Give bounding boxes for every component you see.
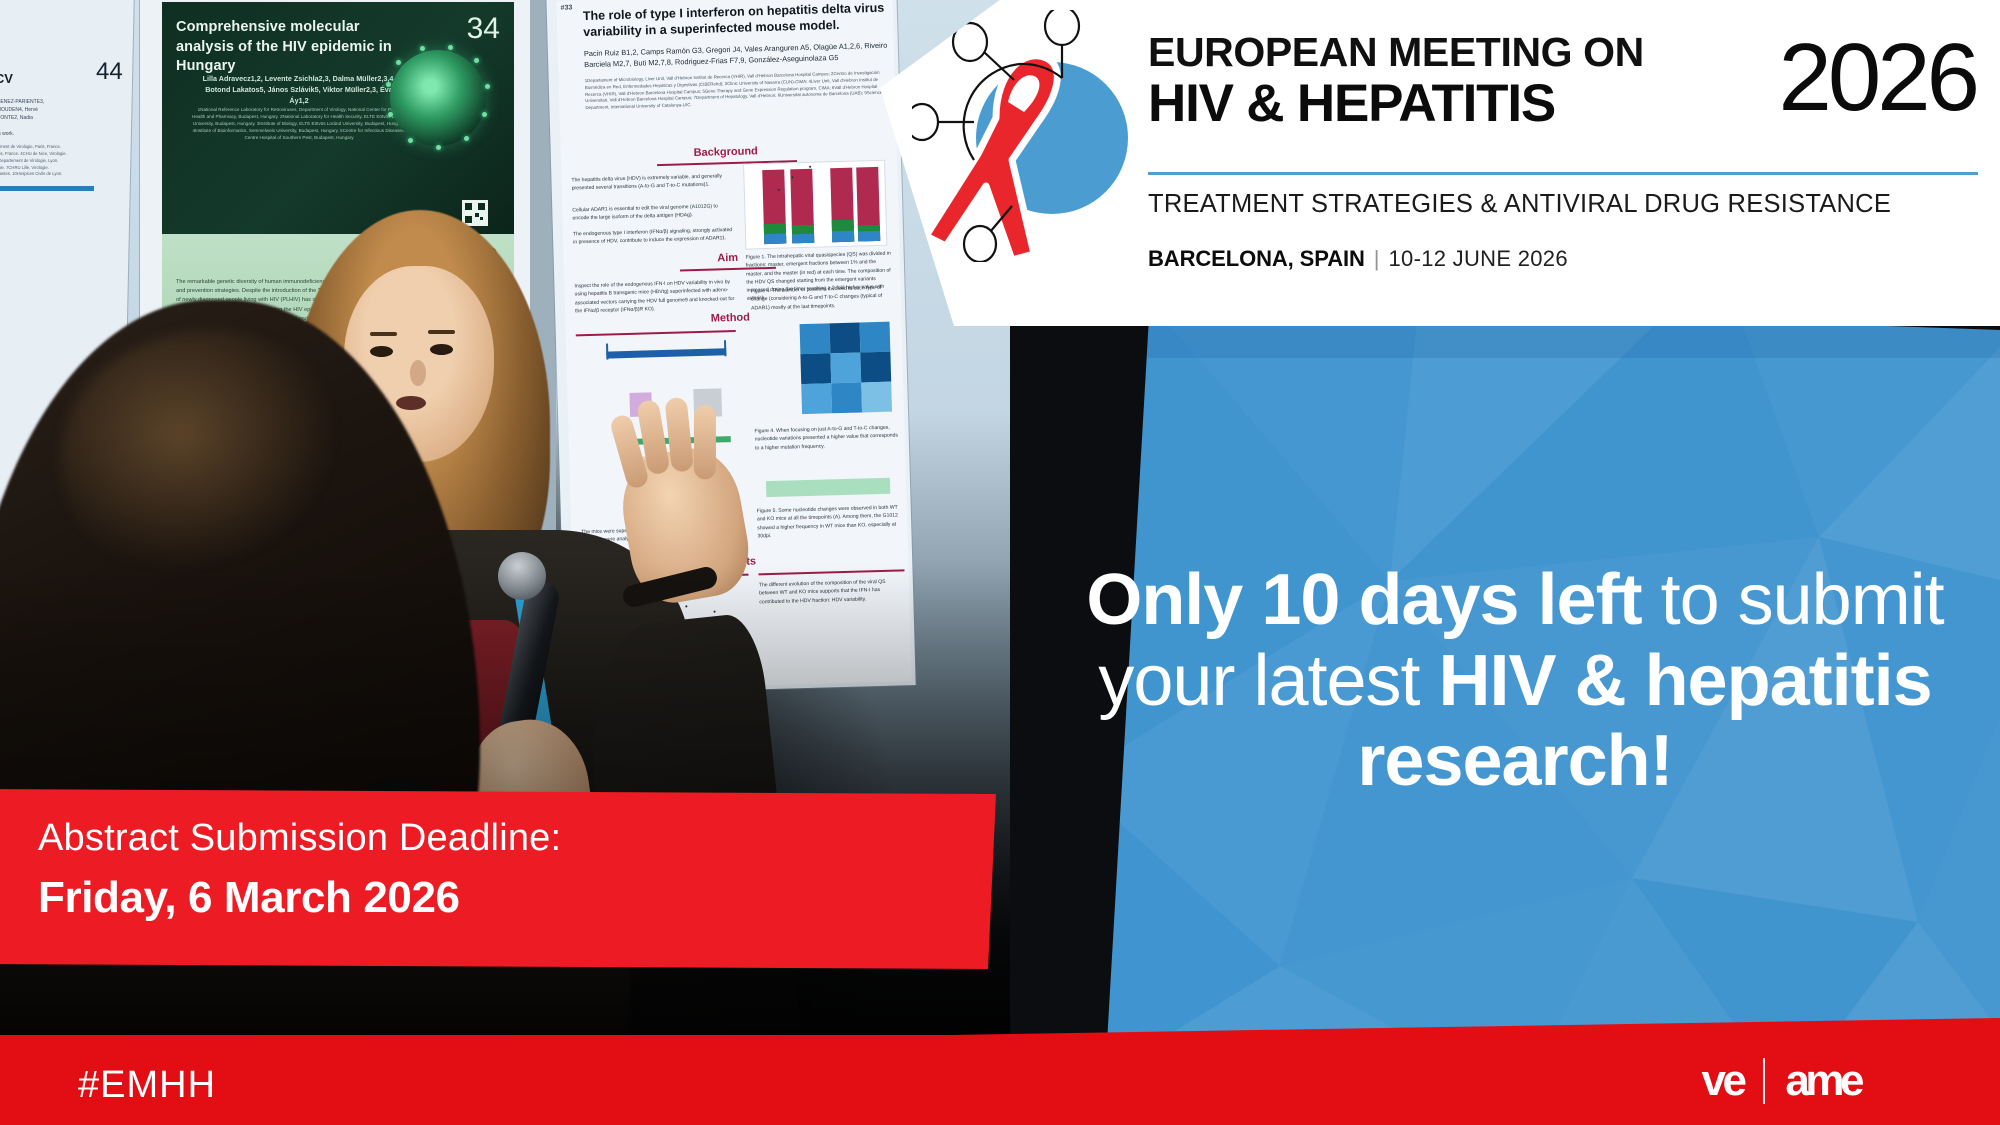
poster-center-affiliations: 1National Reference Laboratory for Retro… [192,106,406,142]
poster-left-number: 44 [96,58,123,86]
headline-bold-lead: Only 10 days left [1086,560,1641,640]
event-logo-panel: EUROPEAN MEETING ON HIV & HEPATITIS 2026… [880,0,2000,326]
virus-illustration [390,50,486,146]
poster-center-number: 34 [467,12,500,46]
deadline-banner: Abstract Submission Deadline: Friday, 6 … [0,789,996,969]
logo-location-dates: BARCELONA, SPAIN|10-12 JUNE 2026 [1148,248,1568,270]
poster-right-heatmap [800,322,893,416]
poster-right-title: The role of type I interferon on hepatit… [583,0,888,41]
headline-bold-tail: HIV & hepatitis research! [1357,641,1931,802]
poster-right-conclusion-bullet-1: The different evolution of the compositi… [759,577,906,606]
headline-message: Only 10 days left to submit your latest … [1050,560,1980,802]
poster-center-title: Comprehensive molecular analysis of the … [176,18,416,77]
poster-right-tag: #33 [561,4,573,11]
poster-right-figure-4-caption: Figure 4. The number of positions involv… [751,283,898,312]
logo-year: 2026 [1778,30,1976,126]
speaker-nose [410,360,426,386]
poster-right-authors: Pacin Ruiz B1,2, Camps Ramón G3, Gregori… [584,40,891,71]
poster-right-figure-5-caption: Figure 5. Some nucleotide changes were o… [757,503,904,540]
partner-logos: ve ame [1701,1058,1860,1104]
logo-divider [1763,1058,1765,1104]
poster-center-authors: Lilla Adravecz1,2, Levente Zsichla2,3, D… [196,74,402,106]
deadline-date: Friday, 6 March 2026 [38,873,460,923]
logo-wordmark: EUROPEAN MEETING ON HIV & HEPATITIS 2026 [1148,32,1978,130]
logo-location: BARCELONA, SPAIN [1148,246,1365,271]
hiv-hepatitis-ribbon-molecule-logo-icon [912,10,1138,262]
poster-left-authors: Pierre LEROY2, Karine BENEZ-PARIENTE3,LA… [0,98,124,138]
poster-right-figure-4b-caption: Figure 4. When focusing on just A-to-G a… [754,423,901,452]
ame-logo[interactable]: ame [1785,1059,1860,1103]
logo-dates: 10-12 JUNE 2026 [1389,246,1568,271]
poster-right-background-bullet-1: The hepatitis delta virus (HDV) is extre… [571,172,731,193]
poster-right-sequence-strip [766,478,890,497]
poster-right-affiliations: 1Departament of Microbiology, Liver Unit… [585,70,892,113]
event-hashtag: #EMHH [78,1064,216,1107]
logo-separator: | [1374,246,1380,271]
virology-education-logo[interactable]: ve [1701,1059,1743,1103]
foreground-attendee-hair-highlight [60,330,360,590]
deadline-label: Abstract Submission Deadline: [38,817,561,860]
poster-left-affiliations: 2Hôpital Saint Antoine, Department de Vi… [0,144,124,178]
speaker-mouth [396,396,426,410]
poster-right-figure-4-plot [757,152,878,207]
logo-rule-divider [1148,172,1978,175]
promo-banner: ss Units: V, and HCV Pierre LEROY2, Kari… [0,0,2000,1125]
logo-tagline: TREATMENT STRATEGIES & ANTIVIRAL DRUG RE… [1148,190,1891,219]
